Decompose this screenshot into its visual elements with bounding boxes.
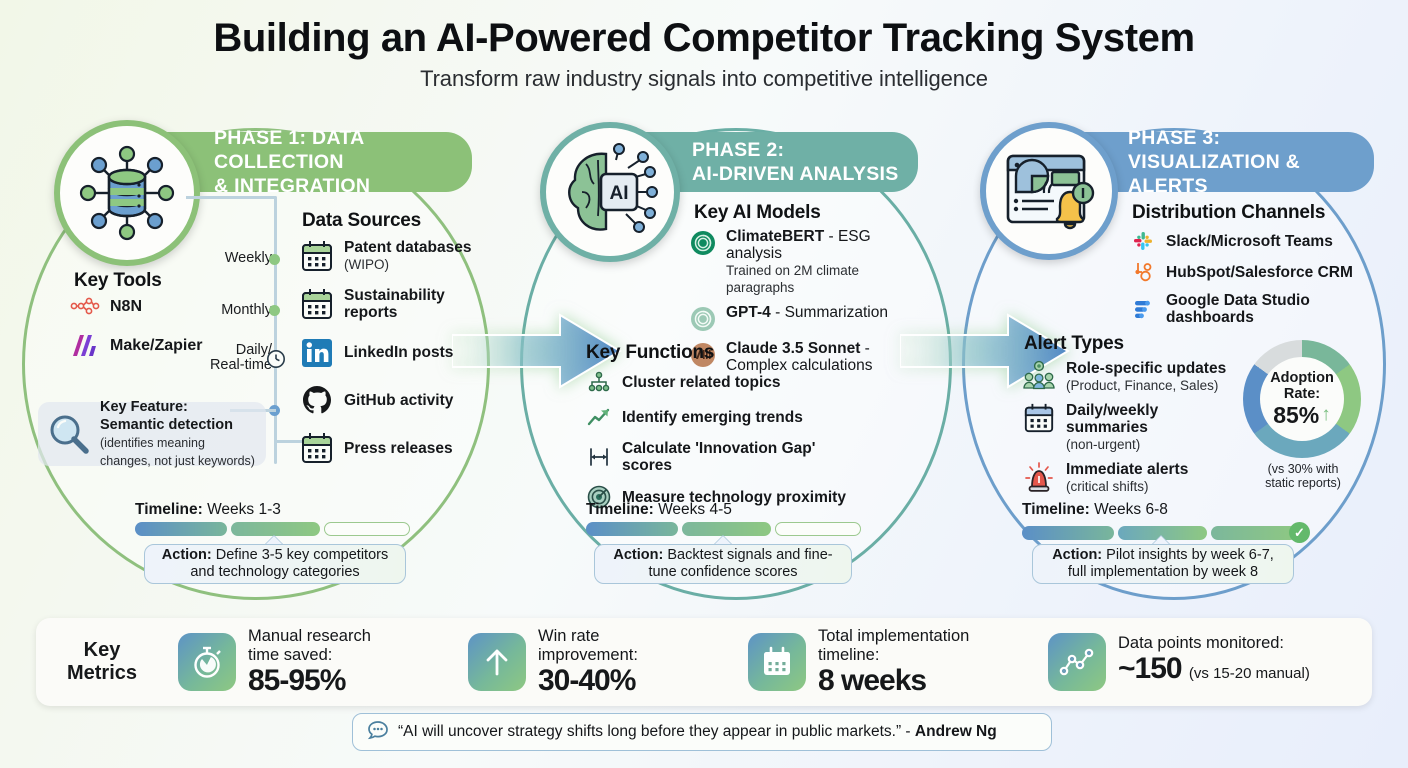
page-title: Building an AI-Powered Competitor Tracki… bbox=[0, 16, 1408, 61]
key-functions-heading: Key Functions bbox=[586, 342, 714, 364]
spine-node-weekly bbox=[269, 254, 280, 265]
metric-manual-research-time-saved: Manual research time saved: 85-95% bbox=[178, 627, 458, 697]
list-item: LinkedIn posts bbox=[300, 334, 490, 370]
phase-2-action-box: Action: Backtest signals and fine-tune c… bbox=[594, 544, 852, 584]
alert-sub: (non-urgent) bbox=[1066, 437, 1140, 452]
metric-value: 8 weeks bbox=[818, 664, 926, 697]
key-feature-sub-1: (identifies meaning bbox=[100, 436, 205, 450]
hubspot-icon bbox=[1130, 261, 1156, 283]
gpt4-icon bbox=[690, 306, 716, 332]
data-sources-heading: Data Sources bbox=[302, 210, 421, 232]
alert-label: Role-specific updates bbox=[1066, 360, 1226, 377]
timeline-label-text: Timeline: bbox=[135, 501, 203, 518]
channel-label: Slack/Microsoft Teams bbox=[1166, 233, 1333, 250]
chat-bubble-icon bbox=[367, 720, 389, 745]
cadence-monthly: Monthly bbox=[186, 303, 272, 318]
make-zapier-icon bbox=[70, 332, 100, 358]
timeline-segment-3 bbox=[775, 522, 861, 536]
phase-1-banner-line1: PHASE 1: DATA COLLECTION bbox=[214, 126, 454, 174]
alert-sub: (critical shifts) bbox=[1066, 479, 1149, 494]
spine-node-monthly bbox=[269, 305, 280, 316]
check-circle-icon: ✓ bbox=[1289, 522, 1310, 543]
action-label: Action: bbox=[162, 547, 212, 563]
metric-label-1: Data points monitored: bbox=[1118, 634, 1284, 652]
metric-label-2: timeline: bbox=[818, 646, 879, 664]
donut-title-1: Adoption bbox=[1270, 370, 1334, 386]
linkedin-icon bbox=[300, 335, 334, 369]
data-source-spine-top bbox=[186, 196, 276, 199]
calendar-icon bbox=[1022, 402, 1056, 434]
list-item: Slack/Microsoft Teams bbox=[1130, 230, 1380, 252]
metric-label-1: Total implementation bbox=[818, 627, 969, 645]
calendar-icon bbox=[300, 431, 334, 465]
timeline-segment-1 bbox=[1022, 526, 1114, 540]
phase-2-banner-line1: PHASE 2: bbox=[692, 138, 899, 162]
metric-total-implementation-timeline: Total implementation timeline: 8 weeks bbox=[748, 627, 1038, 697]
people-group-icon bbox=[1022, 360, 1056, 390]
data-source-label: GitHub activity bbox=[344, 392, 453, 409]
timeline-label-text: Timeline: bbox=[1022, 501, 1090, 518]
metric-value: 85-95% bbox=[248, 664, 345, 697]
action-text: Define 3-5 key competitors and technolog… bbox=[190, 547, 388, 580]
page-subtitle: Transform raw industry signals into comp… bbox=[0, 66, 1408, 92]
stopwatch-icon bbox=[178, 633, 236, 691]
alert-label: Daily/weekly summaries bbox=[1066, 402, 1158, 436]
calendar-icon bbox=[300, 239, 334, 273]
list-item: Immediate alerts (critical shifts) bbox=[1022, 461, 1238, 495]
clock-icon bbox=[266, 349, 286, 374]
metric-label-2: improvement: bbox=[538, 646, 638, 664]
alert-label: Immediate alerts bbox=[1066, 461, 1188, 478]
channel-label: Google Data Studio dashboards bbox=[1166, 292, 1310, 326]
metric-value: 30-40% bbox=[538, 664, 635, 697]
model-name: ClimateBERT bbox=[726, 228, 824, 245]
timeline-segment-1 bbox=[586, 522, 678, 536]
model-sub: Trained on 2M climate paragraphs bbox=[726, 263, 859, 295]
spine-branch-press bbox=[274, 440, 302, 443]
function-label: Calculate 'Innovation Gap' scores bbox=[622, 440, 815, 474]
list-item: GPT-4 - Summarization bbox=[690, 304, 920, 332]
key-tools-heading: Key Tools bbox=[74, 270, 162, 292]
channel-label: HubSpot/Salesforce CRM bbox=[1166, 264, 1353, 281]
list-item: Cluster related topics bbox=[586, 370, 846, 394]
key-feature-sub-2: changes, not just keywords) bbox=[100, 454, 255, 468]
phase-1-timeline-bar bbox=[135, 522, 410, 536]
alert-types-heading: Alert Types bbox=[1024, 333, 1124, 355]
phase-2-banner-line2: AI-DRIVEN ANALYSIS bbox=[692, 162, 899, 186]
key-ai-models-list: ClimateBERT - ESG analysis Trained on 2M… bbox=[690, 228, 920, 382]
action-label: Action: bbox=[1052, 547, 1102, 563]
list-item: Patent databases (WIPO) bbox=[300, 238, 490, 274]
key-feature-title-2: Semantic detection bbox=[100, 417, 233, 433]
data-source-label: Sustainability bbox=[344, 287, 445, 304]
key-metrics-bar: Key Metrics Manual research time saved: … bbox=[36, 618, 1372, 706]
ai-brain-chip-icon: AI bbox=[556, 138, 664, 246]
adoption-rate-donut-chart: Adoption Rate: 85% ↑ bbox=[1243, 340, 1361, 458]
data-source-label: Patent databases bbox=[344, 239, 472, 256]
list-item: Daily/weekly summaries (non-urgent) bbox=[1022, 402, 1238, 453]
quote-text: “AI will uncover strategy shifts long be… bbox=[398, 723, 915, 740]
timeline-segment-2 bbox=[682, 522, 771, 536]
metrics-title-2: Metrics bbox=[67, 662, 137, 684]
key-tool-label: N8N bbox=[110, 298, 142, 315]
metric-value-note: (vs 15-20 manual) bbox=[1189, 665, 1310, 682]
timeline-value-text: Weeks 6-8 bbox=[1094, 501, 1168, 518]
database-network-icon bbox=[71, 137, 183, 249]
metric-win-rate-improvement: Win rate improvement: 30-40% bbox=[468, 627, 738, 697]
key-metrics-title: Key Metrics bbox=[52, 639, 152, 685]
calendar-icon bbox=[748, 633, 806, 691]
donut-note-2: static reports) bbox=[1265, 476, 1341, 490]
quote-banner: “AI will uncover strategy shifts long be… bbox=[352, 713, 1052, 751]
cadence-weekly: Weekly bbox=[186, 251, 272, 266]
magnifier-icon bbox=[46, 411, 92, 457]
distribution-channels-list: Slack/Microsoft Teams HubSpot/Salesforce… bbox=[1130, 230, 1380, 335]
function-label: Identify emerging trends bbox=[622, 409, 803, 426]
phase-2-timeline-label: Timeline: Weeks 4-5 bbox=[586, 501, 732, 519]
donut-center: Adoption Rate: 85% ↑ bbox=[1260, 357, 1344, 441]
phase-1-icon-circle bbox=[54, 120, 200, 266]
cluster-icon bbox=[586, 370, 612, 394]
list-item: ClimateBERT - ESG analysis Trained on 2M… bbox=[690, 228, 920, 296]
phase-3-timeline-label: Timeline: Weeks 6-8 bbox=[1022, 501, 1168, 519]
action-label: Action: bbox=[613, 547, 663, 563]
phase-3-icon-circle bbox=[980, 122, 1118, 260]
donut-note: (vs 30% with static reports) bbox=[1243, 462, 1363, 490]
github-icon bbox=[300, 383, 334, 417]
model-name: GPT-4 bbox=[726, 304, 771, 321]
trend-up-icon bbox=[586, 405, 612, 429]
list-item: Press releases bbox=[300, 430, 490, 466]
metric-label-1: Win rate bbox=[538, 627, 599, 645]
donut-title-2: Rate: bbox=[1284, 386, 1320, 402]
cadence-daily-realtime: Daily/Real-time bbox=[178, 343, 272, 373]
line-chart-icon bbox=[1048, 633, 1106, 691]
list-item: Sustainability reports bbox=[300, 286, 490, 322]
model-desc: - bbox=[860, 340, 869, 357]
timeline-value-text: Weeks 4-5 bbox=[658, 501, 732, 518]
svg-text:AI: AI bbox=[610, 183, 629, 204]
data-source-sub: (WIPO) bbox=[344, 257, 389, 272]
metric-value: ~150 bbox=[1118, 652, 1182, 685]
action-text: Backtest signals and fine-tune confidenc… bbox=[648, 547, 832, 580]
gap-measure-icon bbox=[586, 445, 612, 469]
list-item: HubSpot/Salesforce CRM bbox=[1130, 261, 1380, 283]
metric-data-points-monitored: Data points monitored: ~150 (vs 15-20 ma… bbox=[1048, 633, 1310, 691]
phase-1-timeline-label: Timeline: Weeks 1-3 bbox=[135, 501, 281, 519]
n8n-icon bbox=[70, 296, 100, 316]
arrow-up-icon bbox=[468, 633, 526, 691]
key-feature-title-1: Key Feature: bbox=[100, 399, 188, 415]
timeline-segment-1 bbox=[135, 522, 227, 536]
timeline-label-text: Timeline: bbox=[586, 501, 654, 518]
data-source-spine bbox=[274, 196, 277, 464]
list-item: Google Data Studio dashboards bbox=[1130, 292, 1380, 326]
phase-2-icon-circle: AI bbox=[540, 122, 680, 262]
timeline-segment-2 bbox=[231, 522, 320, 536]
data-source-label: Press releases bbox=[344, 440, 453, 457]
climatebert-icon bbox=[690, 230, 716, 256]
quote-author: Andrew Ng bbox=[915, 723, 997, 740]
timeline-segment-3 bbox=[324, 522, 410, 536]
key-feature-box: Key Feature: Semantic detection (identif… bbox=[38, 402, 266, 466]
slack-icon bbox=[1130, 230, 1156, 252]
list-item: Role-specific updates (Product, Finance,… bbox=[1022, 360, 1238, 394]
calendar-icon bbox=[300, 287, 334, 321]
data-sources-list: Patent databases (WIPO) Sustainability r… bbox=[300, 238, 490, 478]
function-label: Cluster related topics bbox=[622, 374, 781, 391]
model-name: Claude 3.5 Sonnet bbox=[726, 340, 860, 357]
metric-label-2: time saved: bbox=[248, 646, 332, 664]
key-ai-models-heading: Key AI Models bbox=[694, 202, 821, 224]
list-item: Calculate 'Innovation Gap' scores bbox=[586, 440, 846, 474]
donut-note-1: (vs 30% with bbox=[1268, 462, 1339, 476]
data-source-label: LinkedIn posts bbox=[344, 344, 453, 361]
list-item: Claude 3.5 Sonnet - Complex calculations bbox=[690, 340, 920, 374]
phase-3-action-box: Action: Pilot insights by week 6-7, full… bbox=[1032, 544, 1294, 584]
timeline-segment-3 bbox=[1211, 526, 1297, 540]
phase-3-banner-line1: PHASE 3: bbox=[1128, 126, 1356, 150]
metric-label-1: Manual research bbox=[248, 627, 371, 645]
list-item: Identify emerging trends bbox=[586, 405, 846, 429]
infographic-canvas: Building an AI-Powered Competitor Tracki… bbox=[0, 0, 1408, 768]
key-functions-list: Cluster related topics Identify emerging… bbox=[586, 370, 846, 520]
siren-icon bbox=[1022, 461, 1056, 493]
alert-types-list: Role-specific updates (Product, Finance,… bbox=[1022, 360, 1238, 503]
timeline-value-text: Weeks 1-3 bbox=[207, 501, 281, 518]
dashboard-bell-icon bbox=[996, 138, 1102, 244]
phase-3-banner-line2: VISUALIZATION & ALERTS bbox=[1128, 150, 1356, 198]
phase-1-banner-line2: & INTEGRATION bbox=[214, 174, 454, 198]
donut-value: 85% bbox=[1273, 402, 1319, 429]
data-source-sub: reports bbox=[344, 304, 397, 321]
model-desc: - Summarization bbox=[771, 304, 888, 321]
list-item: GitHub activity bbox=[300, 382, 490, 418]
metrics-title-1: Key bbox=[84, 639, 121, 661]
arrow-up-icon: ↑ bbox=[1321, 404, 1331, 426]
google-data-studio-icon bbox=[1130, 298, 1156, 320]
distribution-channels-heading: Distribution Channels bbox=[1132, 202, 1325, 224]
alert-sub: (Product, Finance, Sales) bbox=[1066, 378, 1218, 393]
phase-1-action-box: Action: Define 3-5 key competitors and t… bbox=[144, 544, 406, 584]
phase-2-timeline-bar bbox=[586, 522, 861, 536]
